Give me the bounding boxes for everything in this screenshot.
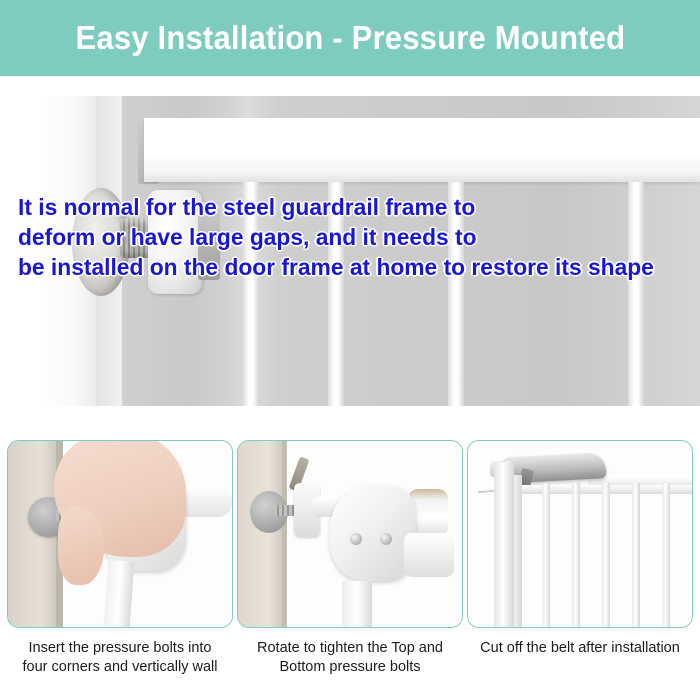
installation-steps: Insert the pressure bolts into four corn… <box>0 440 700 700</box>
step-2-image <box>237 440 463 628</box>
hero-product-image: It is normal for the steel guardrail fra… <box>0 88 700 406</box>
step-3: Cut off the belt after installation <box>468 440 692 700</box>
gate-bar <box>542 483 550 627</box>
gate-bar <box>662 483 670 627</box>
step-1-image <box>7 440 233 628</box>
gate-post <box>104 560 135 628</box>
bracket-screw <box>380 533 392 545</box>
step-2: Rotate to tighten the Top and Bottom pre… <box>238 440 462 700</box>
wall-surface <box>238 441 282 627</box>
thumb-icon <box>58 507 104 585</box>
step-1-caption: Insert the pressure bolts into four corn… <box>8 639 232 677</box>
hero-note-text: It is normal for the steel guardrail fra… <box>18 192 670 282</box>
gate-post-inner <box>514 475 522 627</box>
gate-post <box>494 463 514 627</box>
page-title: Easy Installation - Pressure Mounted <box>75 19 625 57</box>
step-3-caption: Cut off the belt after installation <box>468 639 692 658</box>
step-2-caption: Rotate to tighten the Top and Bottom pre… <box>238 639 462 677</box>
step-1: Insert the pressure bolts into four corn… <box>8 440 232 700</box>
promo-page: Easy Installation - Pressure Mounted It … <box>0 0 700 700</box>
gate-bar <box>572 483 580 627</box>
step-3-image <box>467 440 693 628</box>
gate-bar <box>602 483 610 627</box>
gate-bar <box>632 483 640 627</box>
bracket-screw <box>350 533 362 545</box>
gate-top-rail <box>144 118 700 182</box>
gate-tube-lower <box>404 533 454 577</box>
gate-post <box>342 581 372 627</box>
header-banner: Easy Installation - Pressure Mounted <box>0 0 700 76</box>
